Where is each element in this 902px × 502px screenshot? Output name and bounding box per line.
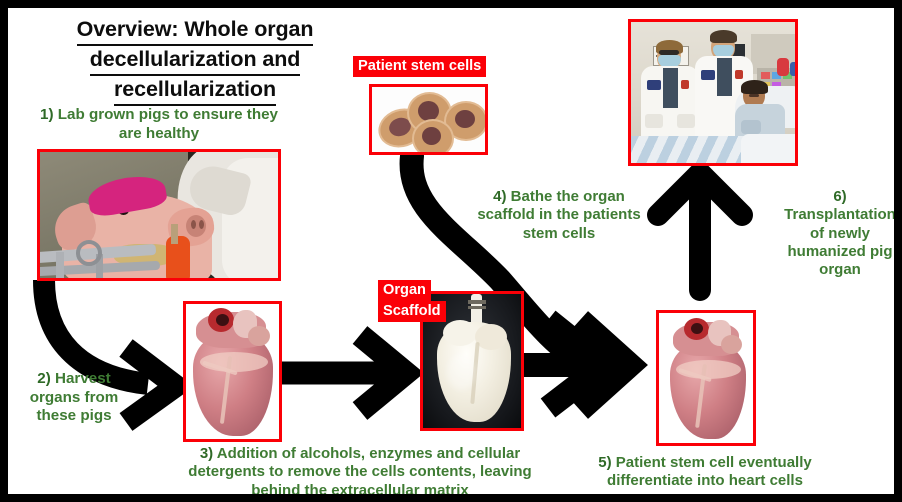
step-5-caption: 5) Patient stem cell eventually differen…: [564, 454, 846, 491]
step-4-number: 4): [493, 188, 506, 205]
title-line-2: decellularization and: [90, 46, 301, 76]
arrow-heart-to-scaffold-icon: [281, 335, 406, 411]
step-6-caption: 6) Transplantation of newly humanized pi…: [776, 188, 902, 279]
arrow-scaffold-to-recellularized-icon: [524, 320, 630, 410]
step-6-text: Transplantation of newly humanized pig o…: [784, 206, 896, 278]
patient-stem-cells-label: Patient stem cells: [353, 56, 486, 77]
recellularized-heart-photo: [656, 310, 756, 446]
page-title: Overview: Whole organ decellularization …: [50, 16, 340, 106]
organ-scaffold-label-line-2: Scaffold: [378, 301, 446, 322]
organ-scaffold-label-line-1: Organ: [378, 280, 431, 301]
title-line-3: recellularization: [114, 76, 276, 106]
title-line-1: Overview: Whole organ: [77, 16, 314, 46]
step-5-number: 5): [598, 454, 611, 471]
step-1-number: 1): [40, 106, 54, 123]
patient-stem-cells-photo: [369, 84, 488, 155]
step-6-number: 6): [833, 188, 846, 205]
organ-scaffold-label: Organ Scaffold: [378, 280, 446, 322]
step-2-number: 2): [37, 370, 51, 387]
lab-pig-photo: [37, 149, 281, 281]
step-3-caption: 3) Addition of alcohols, enzymes and cel…: [184, 445, 536, 500]
arrow-heart-to-transplant-icon: [658, 173, 742, 290]
harvested-heart-photo: [183, 301, 282, 442]
surgical-team-photo: [628, 19, 798, 166]
step-1-caption: 1) Lab grown pigs to ensure they are hea…: [36, 106, 282, 143]
step-3-number: 3): [200, 445, 213, 462]
step-4-caption: 4) Bathe the organ scaffold in the patie…: [466, 188, 652, 243]
step-1-text: Lab grown pigs to ensure they are health…: [58, 106, 278, 142]
patient-stem-cells-label-text: Patient stem cells: [353, 56, 486, 77]
poster-canvas: Overview: Whole organ decellularization …: [0, 0, 902, 502]
step-2-caption: 2) Harvest organs from these pigs: [10, 370, 138, 426]
step-3-text: Addition of alcohols, enzymes and cellul…: [188, 445, 531, 499]
step-5-text: Patient stem cell eventually differentia…: [607, 454, 812, 489]
